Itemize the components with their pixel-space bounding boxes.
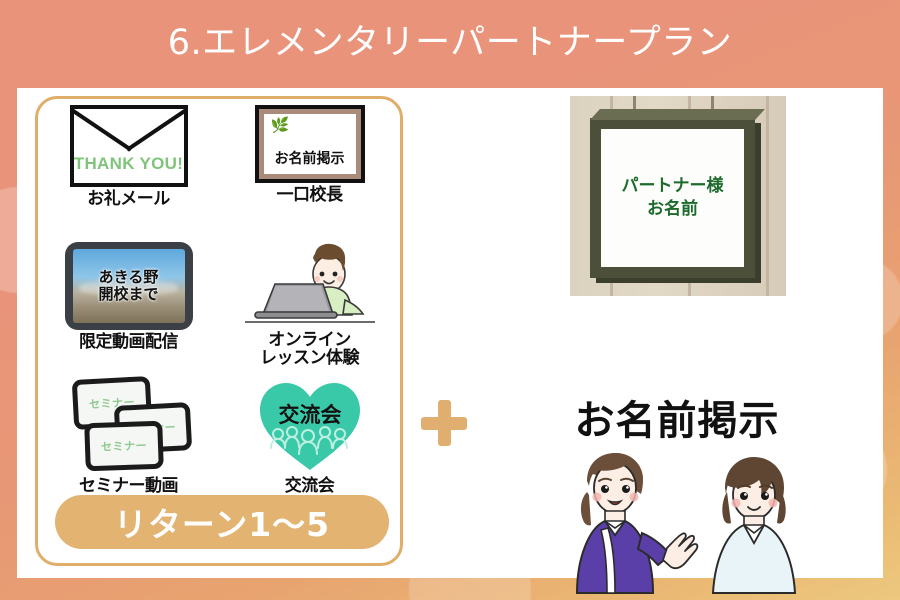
stacked-screens-icon: セミナー セミナー セミナー: [63, 378, 195, 474]
returns-panel: THANK YOU! お礼メール 🌿 お名前掲示: [35, 96, 403, 566]
name-sign-illustration: パートナー様 お名前: [570, 96, 786, 296]
content-card: THANK YOU! お礼メール 🌿 お名前掲示: [17, 88, 883, 578]
heart-icon: 交流会: [256, 378, 364, 474]
return-item-caption: 交流会: [285, 477, 335, 495]
sign-text: パートナー様 お名前: [622, 175, 724, 221]
leaf-icon: 🌿: [271, 118, 290, 133]
returns-grid: THANK YOU! お礼メール 🌿 お名前掲示: [38, 105, 400, 515]
tour-people-illustration: [547, 448, 857, 598]
return-item-caption: 一口校長: [277, 186, 343, 204]
woman-purple-blazer: [577, 453, 697, 593]
return-item-one-unit-principal[interactable]: 🌿 お名前掲示 一口校長: [219, 105, 400, 242]
return-item-caption: オンライン レッスン体験: [260, 331, 359, 368]
slide-canvas: 6.エレメンタリーパートナープラン THANK YOU! お礼メール: [0, 0, 900, 600]
return-item-online-lesson[interactable]: オンライン レッスン体験: [219, 242, 400, 379]
plus-icon: [421, 400, 467, 446]
tablet-screen-text: あきる野 開校まで: [98, 269, 158, 302]
envelope-thank-you-text: THANK YOU!: [74, 154, 184, 174]
child-with-laptop-icon: [245, 242, 375, 328]
name-display-heading: お名前掲示: [507, 388, 847, 446]
svg-text:交流会: 交流会: [278, 403, 341, 427]
woman-light-blue-top: [713, 457, 795, 593]
page-title: 6.エレメンタリーパートナープラン: [0, 14, 900, 65]
return-item-limited-video[interactable]: あきる野 開校まで 限定動画配信: [38, 242, 219, 379]
return-item-caption: 限定動画配信: [79, 333, 178, 351]
name-display-sign: パートナー様 お名前: [590, 118, 755, 278]
framed-plaque-icon: 🌿 お名前掲示: [255, 105, 365, 183]
tablet-icon: あきる野 開校まで: [65, 242, 193, 330]
plaque-text: お名前掲示: [275, 148, 345, 168]
screen-text: セミナー: [100, 438, 147, 456]
returns-range-banner[interactable]: リターン1〜5: [55, 495, 389, 549]
envelope-icon: THANK YOU!: [70, 105, 188, 187]
return-item-thank-you-mail[interactable]: THANK YOU! お礼メール: [38, 105, 219, 242]
returns-range-label: リターン1〜5: [114, 498, 330, 546]
return-item-caption: お礼メール: [87, 190, 170, 208]
